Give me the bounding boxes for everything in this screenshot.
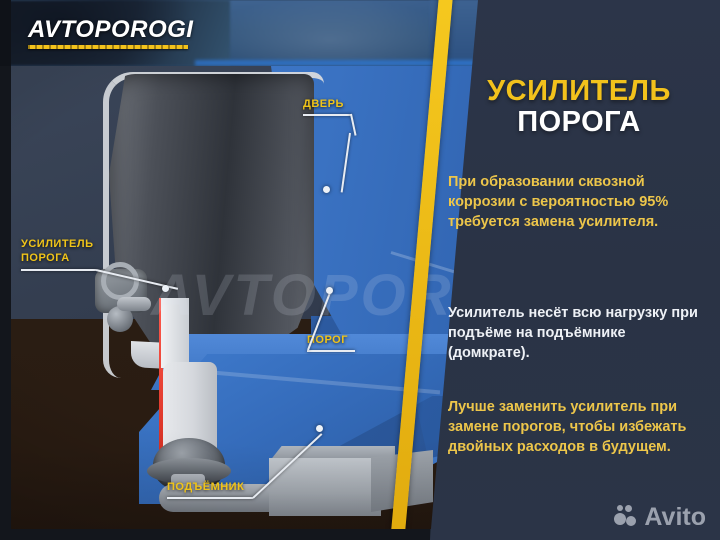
page-title-line2: ПОРОГА (448, 107, 710, 138)
callout-reinforcer-label-line2: ПОРОГА (21, 252, 96, 266)
brand-logo: AVTOPOROGI (28, 18, 193, 49)
callout-lift-dot (316, 425, 323, 432)
text-panel-content: УСИЛИТЕЛЬ ПОРОГА При образовании сквозно… (448, 0, 710, 540)
frame-bottom-border (0, 529, 430, 540)
callout-lift-label: ПОДЪЁМНИК (167, 481, 253, 495)
paragraph-advice: Лучше заменить усилитель при замене поро… (448, 397, 712, 457)
reinforcer-upper-plate (161, 298, 189, 368)
callout-sill-underline (307, 350, 355, 352)
paragraph-load: Усилитель несёт всю нагрузку при подъёме… (448, 303, 712, 363)
brand-logo-text: AVTOPOROGI (28, 18, 193, 42)
callout-sill-dot (326, 287, 333, 294)
callout-lift-underline (167, 497, 253, 499)
door-hinge-ring (101, 262, 139, 300)
callout-door-label: ДВЕРЬ (303, 98, 351, 112)
callout-door: ДВЕРЬ (303, 98, 351, 116)
brand-logo-underline (28, 45, 188, 49)
callout-lift: ПОДЪЁМНИК (167, 481, 253, 499)
callout-reinforcer: УСИЛИТЕЛЬ ПОРОГА (21, 238, 96, 271)
door-inner-panel (109, 74, 314, 369)
avito-logo-text: Avito (644, 505, 706, 530)
door-hinge-pin (117, 297, 151, 311)
paragraph-corrosion: При образовании сквозной коррозии с веро… (448, 172, 712, 232)
callout-reinforcer-dot (162, 285, 169, 292)
frame-left-border (0, 0, 11, 540)
callout-door-underline (303, 114, 351, 116)
avito-watermark: Avito (614, 504, 706, 530)
avito-logo-icon (614, 504, 640, 530)
callout-reinforcer-underline (21, 269, 96, 271)
page-title-line1: УСИЛИТЕЛЬ (448, 76, 710, 107)
promo-banner: AVTOPOROGI (0, 0, 720, 540)
callout-reinforcer-label-line1: УСИЛИТЕЛЬ (21, 238, 96, 252)
page-title: УСИЛИТЕЛЬ ПОРОГА (448, 76, 710, 137)
callout-door-dot (323, 186, 330, 193)
frame-top-left-border (0, 0, 11, 66)
